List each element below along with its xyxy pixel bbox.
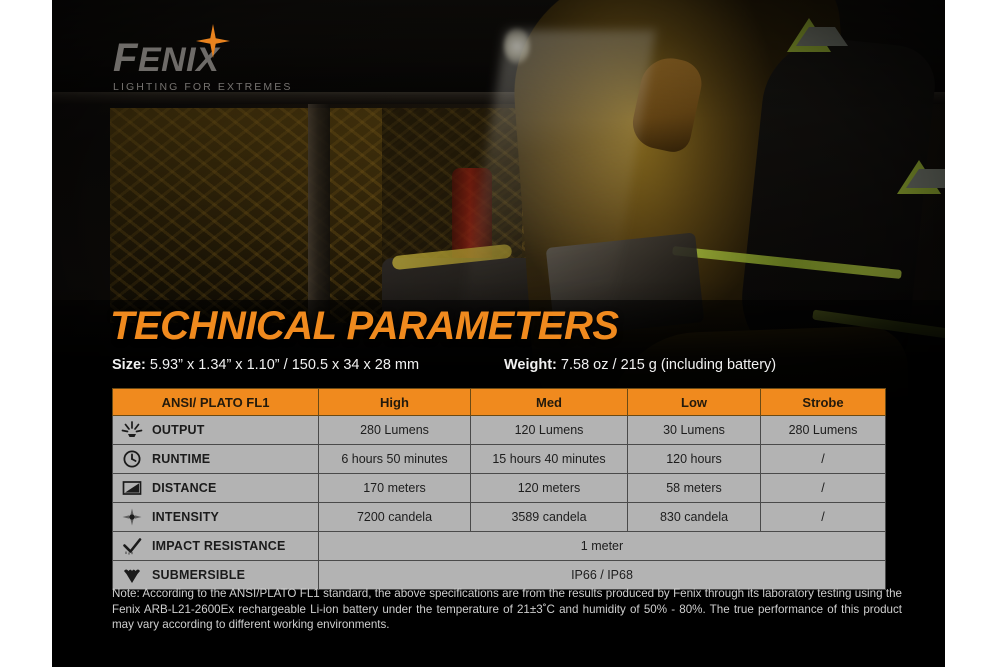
table-row: INTENSITY 7200 candela 3589 candela 830 … [113, 503, 886, 532]
column-header-high: High [319, 389, 471, 416]
footnote: Note: According to the ANSI/PLATO FL1 st… [112, 586, 902, 633]
brand-name-rest: ENIX [138, 41, 219, 79]
column-header-standard: ANSI/ PLATO FL1 [113, 389, 319, 416]
row-label-text: DISTANCE [152, 481, 217, 495]
row-label-text: OUTPUT [152, 423, 205, 437]
cell-output-low: 30 Lumens [628, 416, 761, 445]
weight-group: Weight: 7.58 oz / 215 g (including batte… [504, 357, 776, 373]
cell-runtime-high: 6 hours 50 minutes [319, 445, 471, 474]
cell-runtime-low: 120 hours [628, 445, 761, 474]
column-header-low: Low [628, 389, 761, 416]
row-label-text: INTENSITY [152, 510, 219, 524]
table-body: OUTPUT 280 Lumens 120 Lumens 30 Lumens 2… [113, 416, 886, 590]
cell-output-high: 280 Lumens [319, 416, 471, 445]
cell-distance-low: 58 meters [628, 474, 761, 503]
page-title: TECHNICAL PARAMETERS [110, 306, 619, 346]
row-label-runtime: RUNTIME [113, 445, 319, 474]
row-label-text: SUBMERSIBLE [152, 568, 245, 582]
light-burst-icon [121, 420, 143, 440]
row-label-text: RUNTIME [152, 452, 210, 466]
row-label-text: IMPACT RESISTANCE [152, 539, 286, 553]
row-label-impact-resistance: IMPACT RESISTANCE [113, 532, 319, 561]
size-weight-line: Size: 5.93” x 1.34” x 1.10” / 150.5 x 34… [112, 357, 902, 373]
cell-intensity-low: 830 candela [628, 503, 761, 532]
weight-value: 7.58 oz / 215 g (including battery) [561, 357, 776, 373]
cell-intensity-high: 7200 candela [319, 503, 471, 532]
row-label-output: OUTPUT [113, 416, 319, 445]
column-header-strobe: Strobe [761, 389, 886, 416]
cell-impact-resistance-value: 1 meter [319, 532, 886, 561]
cell-output-strobe: 280 Lumens [761, 416, 886, 445]
brand-name: FENIX [113, 38, 333, 78]
beam-distance-icon [121, 478, 143, 498]
brand-tagline: LIGHTING FOR EXTREMES [113, 81, 333, 93]
brand-name-first-letter: F [113, 36, 138, 80]
table-header-row: ANSI/ PLATO FL1 High Med Low Strobe [113, 389, 886, 416]
table-row: IMPACT RESISTANCE 1 meter [113, 532, 886, 561]
cell-output-med: 120 Lumens [471, 416, 628, 445]
fenix-logo: FENIX LIGHTING FOR EXTREMES [113, 38, 333, 93]
cell-distance-high: 170 meters [319, 474, 471, 503]
size-label: Size: [112, 357, 146, 373]
cell-runtime-med: 15 hours 40 minutes [471, 445, 628, 474]
table-row: OUTPUT 280 Lumens 120 Lumens 30 Lumens 2… [113, 416, 886, 445]
cell-distance-med: 120 meters [471, 474, 628, 503]
row-label-intensity: INTENSITY [113, 503, 319, 532]
product-spec-page: FENIX LIGHTING FOR EXTREMES TECHNICAL PA… [0, 0, 1000, 667]
intensity-crosshair-icon [121, 507, 143, 527]
cell-intensity-strobe: / [761, 503, 886, 532]
impact-drop-icon [121, 536, 143, 556]
specification-table: ANSI/ PLATO FL1 High Med Low Strobe [112, 388, 886, 590]
cell-runtime-strobe: / [761, 445, 886, 474]
cell-intensity-med: 3589 candela [471, 503, 628, 532]
weight-label: Weight: [504, 357, 557, 373]
table-row: DISTANCE 170 meters 120 meters 58 meters… [113, 474, 886, 503]
table-row: RUNTIME 6 hours 50 minutes 15 hours 40 m… [113, 445, 886, 474]
size-value: 5.93” x 1.34” x 1.10” / 150.5 x 34 x 28 … [150, 357, 419, 373]
clock-icon [121, 449, 143, 469]
row-label-distance: DISTANCE [113, 474, 319, 503]
cell-distance-strobe: / [761, 474, 886, 503]
water-drop-icon [121, 565, 143, 585]
column-header-med: Med [471, 389, 628, 416]
